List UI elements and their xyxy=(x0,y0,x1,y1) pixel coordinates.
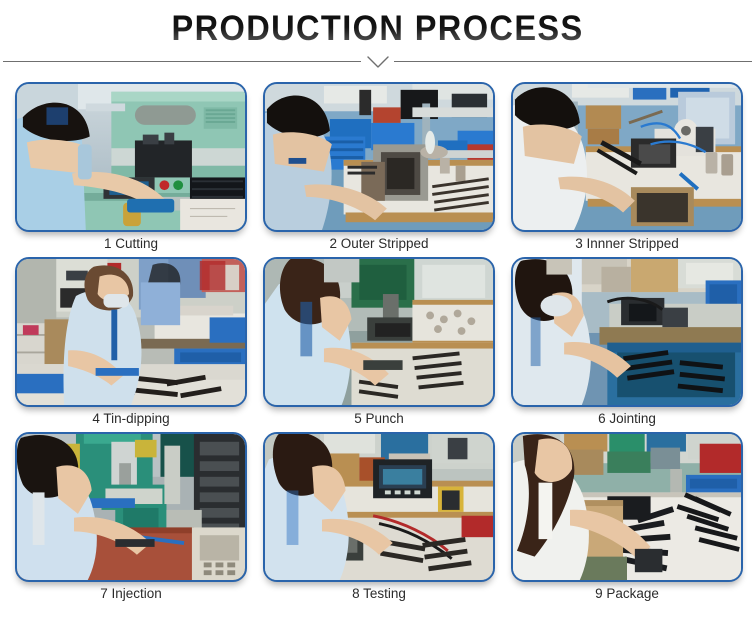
process-photo-outer-stripped[interactable] xyxy=(263,82,495,232)
process-step-6[interactable]: 6 Jointing xyxy=(511,257,743,432)
process-caption: 7 Injection xyxy=(15,584,247,604)
process-step-8[interactable]: 8 Testing xyxy=(263,432,495,607)
process-step-1[interactable]: 1 Cutting xyxy=(15,82,247,257)
process-photo-package[interactable] xyxy=(511,432,743,582)
divider-line-left xyxy=(3,61,361,62)
process-step-7[interactable]: 7 Injection xyxy=(15,432,247,607)
process-step-5[interactable]: 5 Punch xyxy=(263,257,495,432)
process-photo-testing[interactable] xyxy=(263,432,495,582)
process-step-3[interactable]: 3 Innner Stripped xyxy=(511,82,743,257)
process-photo-tin-dipping[interactable] xyxy=(15,257,247,407)
page-title: PRODUCTION PROCESS xyxy=(171,9,583,49)
page-header: PRODUCTION PROCESS xyxy=(0,0,755,49)
process-photo-punch[interactable] xyxy=(263,257,495,407)
process-caption: 5 Punch xyxy=(263,409,495,429)
process-caption: 9 Package xyxy=(511,584,743,604)
title-divider xyxy=(0,52,755,74)
process-photo-cutting[interactable] xyxy=(15,82,247,232)
process-photo-inner-stripped[interactable] xyxy=(511,82,743,232)
process-caption: 2 Outer Stripped xyxy=(263,234,495,254)
process-caption: 3 Innner Stripped xyxy=(511,234,743,254)
process-photo-jointing[interactable] xyxy=(511,257,743,407)
process-caption: 6 Jointing xyxy=(511,409,743,429)
process-caption: 1 Cutting xyxy=(15,234,247,254)
process-grid: 1 Cutting xyxy=(15,82,743,607)
chevron-down-icon xyxy=(366,54,390,70)
process-step-9[interactable]: 9 Package xyxy=(511,432,743,607)
process-step-4[interactable]: 4 Tin-dipping xyxy=(15,257,247,432)
process-caption: 8 Testing xyxy=(263,584,495,604)
divider-line-right xyxy=(394,61,752,62)
process-caption: 4 Tin-dipping xyxy=(15,409,247,429)
production-process-infographic: PRODUCTION PROCESS xyxy=(0,0,755,622)
process-step-2[interactable]: 2 Outer Stripped xyxy=(263,82,495,257)
process-photo-injection[interactable] xyxy=(15,432,247,582)
